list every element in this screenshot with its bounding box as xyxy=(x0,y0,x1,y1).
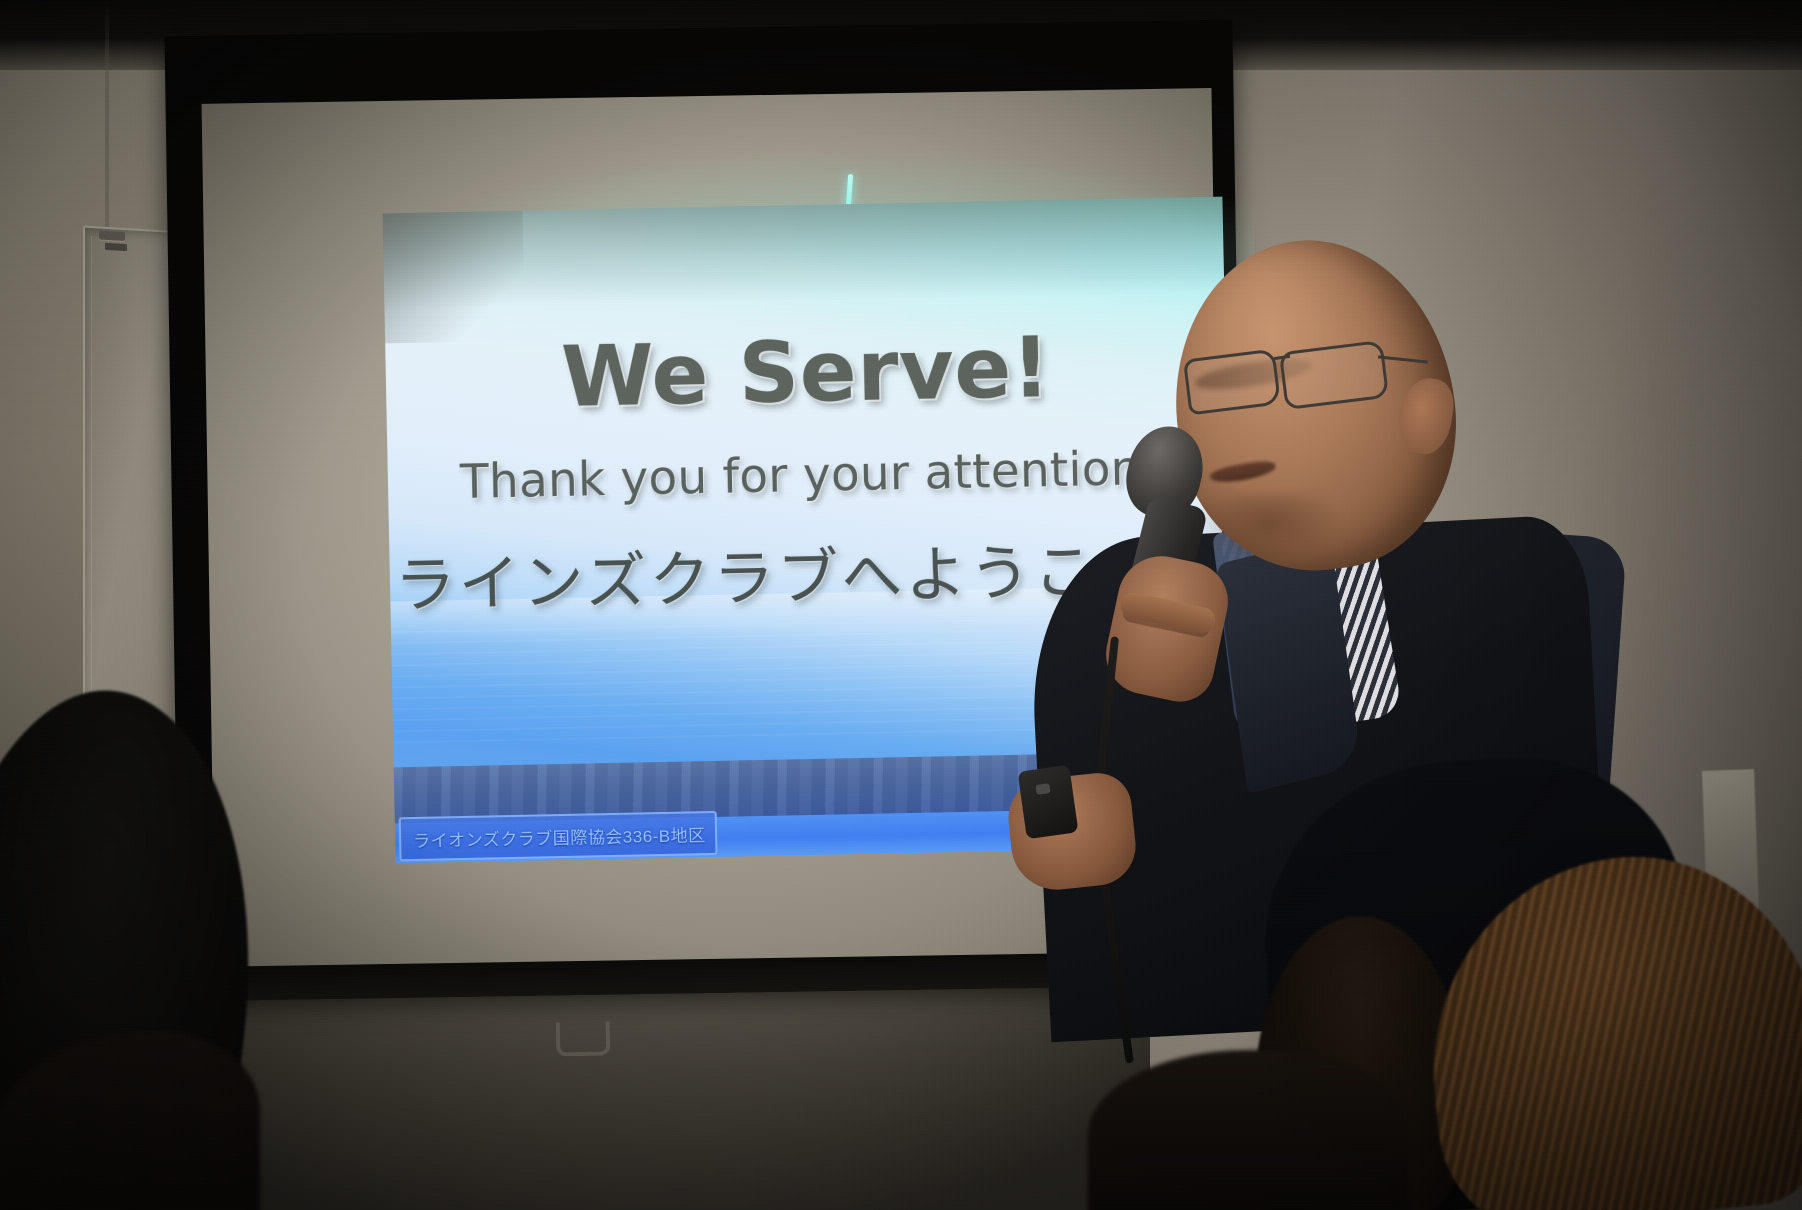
audience-member-right-shoulder xyxy=(1088,1050,1408,1210)
presenter-chin-shadow xyxy=(1194,494,1344,564)
slide-org-plate: ライオンズクラブ国際協会336-B地区 xyxy=(399,811,718,861)
screen-pull-handle[interactable] xyxy=(556,1022,611,1057)
whiteboard-clip-icon xyxy=(99,231,125,242)
presentation-remote-button-icon xyxy=(1035,783,1050,795)
slide-org-name: ライオンズクラブ国際協会336-B地区 xyxy=(413,821,706,852)
whiteboard-clip-secondary-icon xyxy=(105,243,127,251)
photo-scene: We Serve! Thank you for your attention. … xyxy=(0,0,1802,1210)
slide-corner-shading xyxy=(383,211,526,344)
presenter-glasses-left-lens-icon xyxy=(1183,349,1281,416)
presentation-remote xyxy=(1018,765,1079,840)
